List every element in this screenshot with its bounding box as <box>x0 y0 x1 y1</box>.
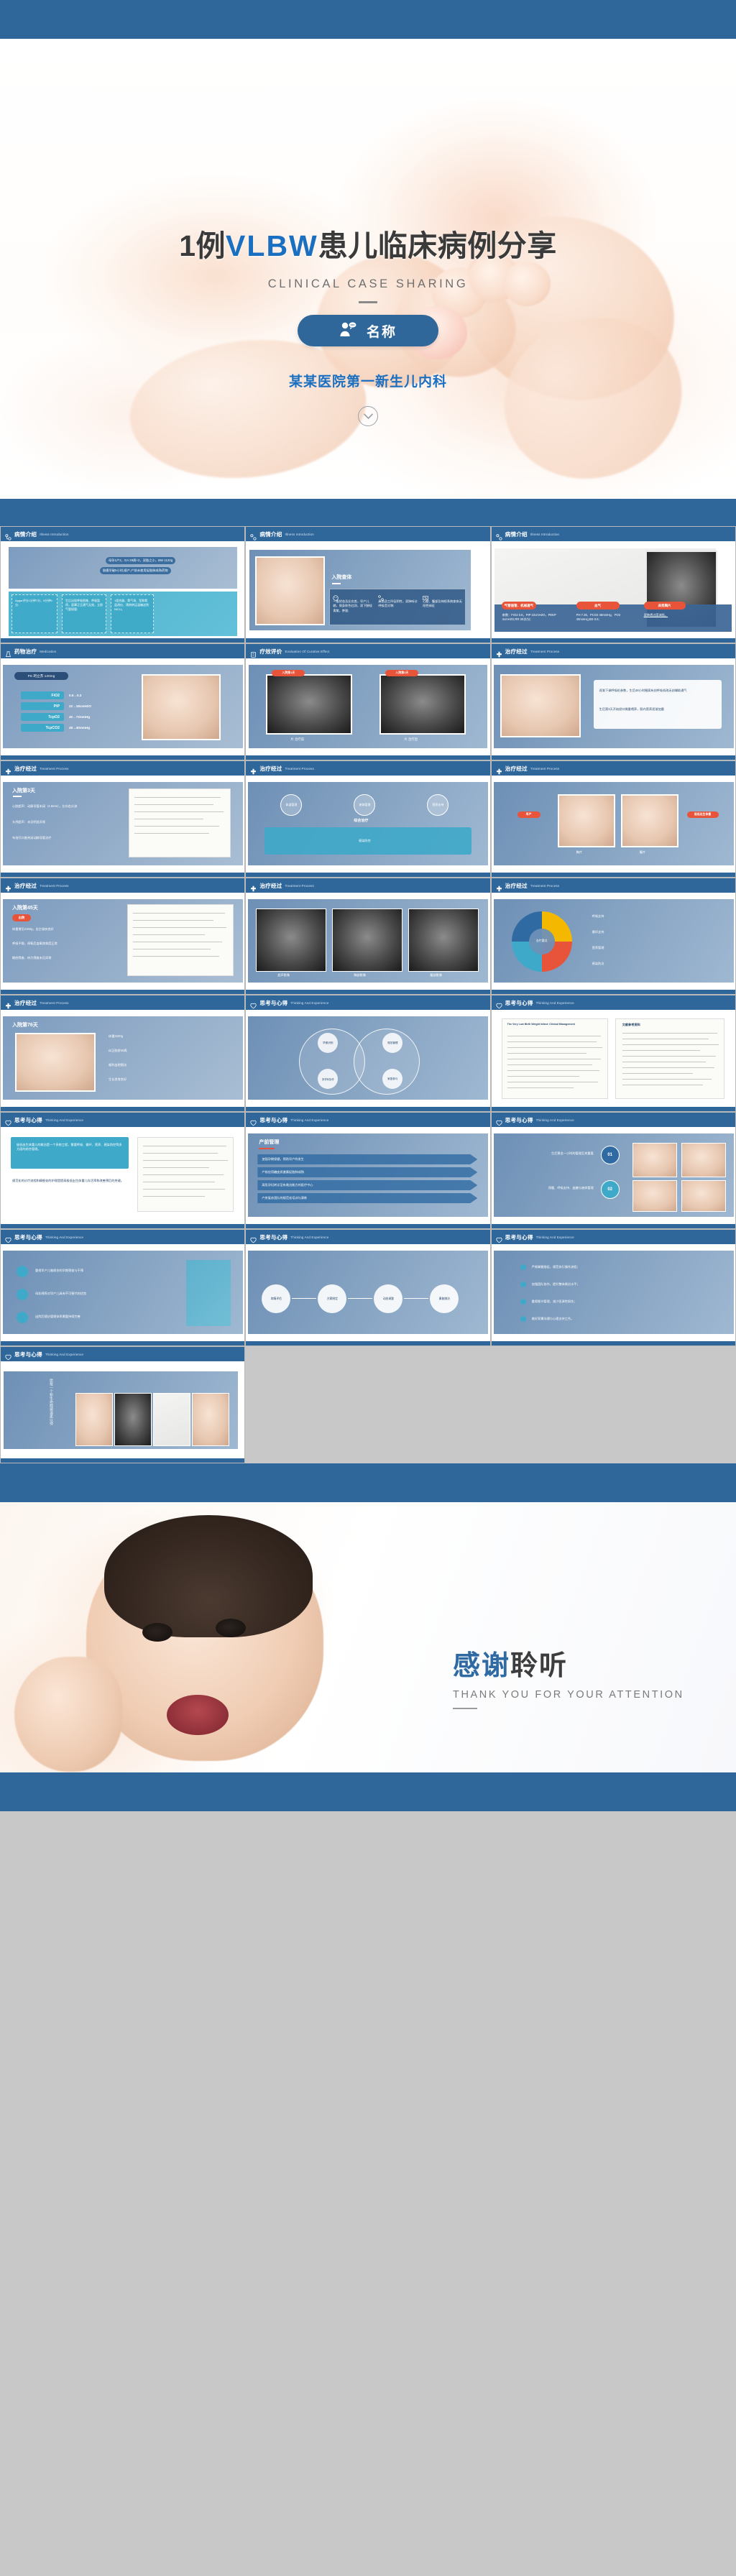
slide-header: 病情介绍 Illness Introduction <box>1 527 244 541</box>
badge: 血气 <box>576 602 620 609</box>
slide-footer-bar <box>246 1341 489 1345</box>
heart-icon <box>5 1351 11 1358</box>
slide-body: 气管插管、机械通气 血气 床旁胸片 参数：FIO2 0.6，PIP 22cmH2… <box>492 541 735 643</box>
slide-section-cn: 药物治疗 <box>14 648 37 655</box>
doc-line <box>507 1059 601 1059</box>
patient-photo <box>558 794 615 847</box>
slide-title: 入院第3天 <box>12 787 35 794</box>
slide-section-cn: 思考与心得 <box>505 1233 533 1241</box>
slide-section-en: Thinking And Experience <box>290 1236 328 1239</box>
slide-thumbnail[interactable]: 治疗经过 Treatment Process 入院第3天 心脏超声：动脉导管未闭… <box>0 760 245 878</box>
highlight-text: 极低出生体重儿的救治是一个系统工程，需要呼吸、循环、营养、感染防控等多方面的综合… <box>17 1143 123 1152</box>
slide-section-cn: 病情介绍 <box>259 530 282 538</box>
slide-body: 早期识别 规范管理 多学科协作 家庭参与 <box>246 1010 489 1111</box>
ultrasound-report <box>129 788 231 857</box>
slide-body: 入院查体 一般状态及反应差，早产儿貌，周身肤色红润，双下肢轻青紫，肿胀; 鼻扇及… <box>246 541 489 643</box>
doc-line <box>143 1160 228 1161</box>
slide-section-en: Treatment Process <box>530 767 559 770</box>
bottom-frame-bar <box>0 1463 736 1502</box>
treatment-note: 生后第3天开始经口微量喂养，肠内营养逐渐加量 <box>599 707 716 712</box>
slide-section-en: Treatment Process <box>40 767 68 770</box>
slide-footer-bar <box>1 755 244 760</box>
vertical-calligraphy-text: 愿每一个新生命都被温柔以待 <box>17 1379 54 1442</box>
step-number: 02 <box>601 1180 620 1199</box>
chevron-down-icon[interactable] <box>358 406 378 426</box>
ultrasound-image <box>256 908 326 972</box>
slide-footer-bar <box>492 1341 735 1345</box>
thanks-text-block: 感谢聆听 THANK YOU FOR YOUR ATTENTION <box>453 1643 684 1709</box>
status-badge: 出院 <box>12 914 31 921</box>
slide-header: 治疗经过 Treatment Process <box>492 644 735 658</box>
badge: 入院第3天 <box>385 670 418 676</box>
slide-thumbnail[interactable]: 思考与心得 Thinking And Experience 01 02 生后黄金… <box>491 1112 736 1229</box>
slide-thumbnail[interactable]: 药物治疗 Medication PS 珂立苏 120mg FiO2 0.6→0.… <box>0 643 245 760</box>
slide-footer-bar <box>246 1107 489 1111</box>
exam-item: 心脏、腹部及神经系统查体无阳性体征 <box>423 599 463 609</box>
title-underline <box>13 796 22 797</box>
slide-section-cn: 思考与心得 <box>505 999 533 1007</box>
slide-body: 01 02 生后黄金一小时的管理至关重要 保暖、呼吸支持、血糖与液体管理 <box>492 1127 735 1228</box>
param-value: 22→18cmH2O <box>69 704 91 709</box>
slide-thumbnail-grid: 病情介绍 Illness Introduction 母孕1产2，GA 29周+2… <box>0 526 736 1463</box>
heart-icon <box>250 1117 257 1123</box>
slide-thumbnail[interactable]: 思考与心得 Thinking And Experience 严格掌握指征，规范执… <box>491 1229 736 1346</box>
slide-header: 治疗经过 Treatment Process <box>246 878 489 893</box>
paper-note: 文献参考资料 <box>622 1023 640 1027</box>
slide-section-cn: 思考与心得 <box>259 1116 287 1124</box>
doc-line <box>507 1076 579 1077</box>
doc-line <box>133 913 225 914</box>
patient-photo <box>621 794 678 847</box>
background-photo <box>494 1251 734 1334</box>
slide-section-cn: 治疗经过 <box>14 882 37 890</box>
slide-header: 病情介绍 Illness Introduction <box>492 527 735 541</box>
bullet-text: 重视早产儿脑损伤的早期筛查与干预 <box>35 1269 172 1273</box>
slide-footer-bar <box>246 638 489 643</box>
slide-footer-bar <box>492 1224 735 1228</box>
slide-thumbnail[interactable]: 治疗经过 Treatment Process 入院第76天 体重3100g 纠正… <box>0 995 245 1112</box>
slide-footer-bar <box>492 873 735 877</box>
slide-header: 病情介绍 Illness Introduction <box>246 527 489 541</box>
paper-title: The Very Low Birth Weight Infant: Clinic… <box>507 1023 602 1026</box>
slide-section-cn: 病情介绍 <box>505 530 528 538</box>
slide-thumbnail[interactable]: 治疗经过 Treatment Process 体温管理 液体管理 营养支持 综合… <box>245 760 490 878</box>
detail-text: 双肺透过度减低。 <box>644 613 687 617</box>
collage-photo <box>114 1393 152 1446</box>
slide-body: 逐渐下调呼吸机参数，生后48小时撤离有创呼吸机改无创辅助通气 生后第3天开始经口… <box>492 658 735 760</box>
title-divider <box>359 301 377 303</box>
chest-xray-image <box>332 908 402 972</box>
image-caption: 胸片 <box>576 850 582 855</box>
doc-line <box>507 1070 599 1071</box>
slide-section-en: Treatment Process <box>40 884 68 888</box>
top-frame-bar <box>0 0 736 39</box>
slide-section-en: Thinking And Experience <box>45 1236 83 1239</box>
slide-body: 病情评估 方案制定 动态调整 康复随访 <box>246 1244 489 1345</box>
image-caption: 腹部影像 <box>430 973 442 977</box>
thank-you-slide: 感谢聆听 THANK YOU FOR YOUR ATTENTION <box>0 1502 736 1772</box>
thanks-heading: 感谢聆听 <box>453 1643 684 1683</box>
slide-section-cn: 治疗经过 <box>14 999 37 1007</box>
paper-page <box>615 1018 724 1099</box>
slide-thumbnail[interactable]: 治疗经过 Treatment Process 治疗要点 呼吸支持 循环支持 营养… <box>491 878 736 995</box>
discharge-report <box>127 904 234 976</box>
title-underline <box>332 583 341 584</box>
bullet-marker <box>17 1266 28 1277</box>
stethoscope-icon <box>5 531 11 538</box>
thanks-heading-dark: 聆听 <box>510 1651 568 1681</box>
slide-footer-bar <box>246 755 489 760</box>
speaker-button-label: 名称 <box>367 321 397 341</box>
slide-section-en: Treatment Process <box>40 1001 68 1005</box>
slide-section-en: Treatment Process <box>530 884 559 888</box>
thanks-divider <box>453 1708 477 1709</box>
vial-icon <box>5 648 11 655</box>
patient-photo <box>255 556 325 625</box>
heart-icon <box>496 1117 502 1123</box>
bullet-marker <box>17 1289 28 1300</box>
patient-photo <box>681 1143 726 1177</box>
slide-header: 思考与心得 Thinking And Experience <box>1 1113 244 1127</box>
slide-section-en: Evaluation Of Curative Effect <box>285 650 330 653</box>
slide-header: 思考与心得 Thinking And Experience <box>1 1347 244 1361</box>
bullet-text: 高危孕妇转诊至有救治能力的医疗中心 <box>262 1183 313 1187</box>
doc-line <box>133 942 222 942</box>
slide-header: 治疗经过 Treatment Process <box>246 761 489 776</box>
doc-line <box>133 956 219 957</box>
xray-after <box>379 674 466 735</box>
baby-eye <box>142 1623 172 1642</box>
image-caption: 胸部影像 <box>354 973 366 977</box>
slide-footer-bar <box>1 1107 244 1111</box>
heart-monitor-icon <box>423 592 428 604</box>
doc-line <box>143 1146 226 1146</box>
doc-line <box>622 1050 700 1051</box>
slide-header: 思考与心得 Thinking And Experience <box>246 995 489 1010</box>
doc-line <box>134 811 224 812</box>
heart-icon <box>250 1234 257 1241</box>
slide-body: 愿每一个新生命都被温柔以待 <box>1 1361 244 1463</box>
slide-section-cn: 治疗经过 <box>14 765 37 773</box>
segment-label: 呼吸支持 <box>592 914 604 919</box>
slide-thumbnail[interactable]: 病情介绍 Illness Introduction 入院查体 一般状态及反应差，… <box>245 526 490 643</box>
medical-cross-icon <box>5 1000 11 1006</box>
doc-line <box>133 927 226 928</box>
slide-body: 重视早产儿脑损伤的早期筛查与干预 母乳喂养对早产儿具有不可替代的优势 出院后随访… <box>1 1244 244 1345</box>
medical-cross-icon <box>5 883 11 889</box>
info-card: 生后出现呼吸困难、呼吸暂停，面罩正压通气无效，立即气管插管; <box>62 594 106 633</box>
slide-section-en: Thinking And Experience <box>536 1236 574 1239</box>
slide-section-cn: 思考与心得 <box>14 1233 42 1241</box>
slide-thumbnail[interactable]: 思考与心得 Thinking And Experience 极低出生体重儿的救治… <box>0 1112 245 1229</box>
treatment-note: 体重增至2150g，自主吸吮良好 <box>12 927 104 931</box>
slide-section-cn: 思考与心得 <box>14 1351 42 1358</box>
slide-thumbnail[interactable]: 思考与心得 Thinking And Experience 产前管理 加强孕期保… <box>245 1112 490 1229</box>
bullet-text: 做好家属沟通与心理支持工作。 <box>532 1317 574 1321</box>
slide-header: 思考与心得 Thinking And Experience <box>246 1113 489 1127</box>
param-value: 0.6→0.3 <box>69 694 81 699</box>
heart-icon <box>496 1000 502 1006</box>
slide-header: 治疗经过 Treatment Process <box>1 995 244 1010</box>
page-subtitle: CLINICAL CASE SHARING <box>268 277 469 291</box>
bullet-text: 重视细节管理，减少医源性损伤； <box>532 1299 577 1304</box>
slide-header: 疗效评价 Evaluation Of Curative Effect <box>246 644 489 658</box>
center-label: 综合治疗 <box>354 819 368 824</box>
collage-photo <box>153 1393 190 1446</box>
baby-mouth <box>167 1695 229 1735</box>
slide-thumbnail[interactable]: 思考与心得 Thinking And Experience 病情评估 方案制定 … <box>245 1229 490 1346</box>
image-caption: 腹片 <box>640 850 645 855</box>
info-chip: 母孕1产2，GA 29周+2，双胎之小，BW 1120g <box>106 557 175 564</box>
slide-thumbnail[interactable]: 思考与心得 Thinking And Experience 早期识别 规范管理 … <box>245 995 490 1112</box>
doc-line <box>622 1085 703 1085</box>
doc-line <box>622 1044 719 1045</box>
bullet-text: 出院后随访管理体系需要持续完善 <box>35 1315 172 1319</box>
slide-thumbnail[interactable]: 疗效评价 Evaluation Of Curative Effect 入院第1天… <box>245 643 490 760</box>
slide-section-cn: 治疗经过 <box>259 765 282 773</box>
info-card: Apgar评分1分钟7分、5分钟9分; <box>11 594 57 633</box>
title-suffix: 患儿临床病例分享 <box>318 229 557 262</box>
segment-label: 营养管理 <box>592 946 604 950</box>
slide-header: 治疗经过 Treatment Process <box>492 878 735 893</box>
detail-text: PH 7.35、PCO2 48mmHg、PO2 40mmHg,BE-3.6; <box>576 613 635 622</box>
speaker-button[interactable]: 名称 <box>298 315 438 346</box>
slide-body: 严格掌握指征，规范执行操作流程； 加强团队协作，提升整体救治水平； 重视细节管理… <box>492 1244 735 1345</box>
slide-footer-bar <box>1 873 244 877</box>
slide-body: PS 珂立苏 120mg FiO2 0.6→0.3 PIP 22→18cmH2O… <box>1 658 244 760</box>
image-caption: 片 治疗前 <box>290 737 304 742</box>
slide-header: 思考与心得 Thinking And Experience <box>492 1113 735 1127</box>
step-text: 保暖、呼吸支持、血糖与液体管理 <box>507 1186 594 1190</box>
segment-label: 感染防治 <box>592 962 604 966</box>
doc-line <box>622 1033 717 1034</box>
slide-thumbnail[interactable]: 治疗经过 Treatment Process 逐渐下调呼吸机参数，生后48小时撤… <box>491 643 736 760</box>
slide-body: 体温管理 液体管理 营养支持 综合治疗 感染防控 <box>246 776 489 877</box>
slide-section-cn: 思考与心得 <box>259 1233 287 1241</box>
slide-section-cn: 病情介绍 <box>14 530 37 538</box>
treatment-note: 头颅超声：未见明显异常 <box>12 820 106 824</box>
xray-before <box>266 674 352 735</box>
footer-frame-bar <box>0 1772 736 1811</box>
treatment-note: 顺利出院随访 <box>109 1063 126 1067</box>
bullet-marker <box>17 1312 28 1323</box>
slide-thumbnail[interactable]: 治疗经过 Treatment Process 入院第45天 出院 体重增至215… <box>0 878 245 995</box>
procedure-photo <box>142 674 221 740</box>
bullet-marker <box>520 1264 526 1270</box>
param-label: PIP <box>21 702 64 710</box>
slide-body: 早产 极低出生体重 胸片 腹片 <box>492 776 735 877</box>
slide-footer-bar <box>1 638 244 643</box>
slide-section-en: Thinking And Experience <box>45 1353 83 1356</box>
bullet-marker <box>520 1282 526 1287</box>
thanks-subheading: THANK YOU FOR YOUR ATTENTION <box>453 1689 684 1701</box>
info-chip: 胎膜早破5小时,顺产,产前未使用促胎肺成熟药物 <box>100 567 171 574</box>
empty-grid-cell <box>491 1346 736 1463</box>
param-value: 40→72mmHg <box>69 715 90 720</box>
doc-line <box>507 1082 598 1082</box>
hero-bottom-frame-bar <box>0 499 736 526</box>
doc-line <box>622 1073 693 1074</box>
bullet-text: 产房复苏团队的规范化培训与演练 <box>262 1196 307 1200</box>
medical-cross-icon <box>250 765 257 772</box>
slide-thumbnail[interactable]: 思考与心得 Thinking And Experience The Very L… <box>491 995 736 1112</box>
patient-photo <box>681 1180 726 1212</box>
doc-line <box>143 1182 215 1182</box>
empty-grid-cell <box>245 1346 490 1463</box>
bullet-text: 加强孕期保健，预防早产的发生 <box>262 1157 304 1161</box>
slide-section-cn: 思考与心得 <box>259 999 287 1007</box>
doc-line <box>143 1189 225 1190</box>
side-panel <box>186 1260 231 1326</box>
doc-line <box>133 934 205 935</box>
slide-section-en: Thinking And Experience <box>536 1001 574 1005</box>
slide-body: 治疗要点 呼吸支持 循环支持 营养管理 感染防治 <box>492 893 735 994</box>
slide-thumbnail[interactable]: 治疗经过 Treatment Process 早产 极低出生体重 胸片 腹片 <box>491 760 736 878</box>
detail-text: 参数：FIO2 0.6，PIP 22cmH2O，PEEP 4cmH2O,RR 3… <box>502 613 558 622</box>
department-label: 某某医院第一新生儿内科 <box>289 371 447 390</box>
incubator-photo <box>500 674 581 737</box>
treatment-note: 心脏超声：动脉导管未闭（2.6mm），左向右分流 <box>12 804 106 809</box>
drug-chip: PS 珂立苏 120mg <box>14 672 68 680</box>
slide-footer-bar <box>492 755 735 760</box>
doc-line <box>134 826 219 827</box>
slide-thumbnail[interactable]: 治疗经过 Treatment Process 超声影像 胸部影像 腹部影像 <box>245 878 490 995</box>
slide-footer-bar <box>246 990 489 994</box>
doc-line <box>622 1062 706 1062</box>
slide-section-cn: 治疗经过 <box>259 882 282 890</box>
treatment-note: 眼底筛查、听力筛查未见异常 <box>12 956 104 960</box>
abdominal-xray-image <box>408 908 479 972</box>
slide-header: 治疗经过 Treatment Process <box>1 761 244 776</box>
medical-cross-icon <box>5 765 11 772</box>
step-text: 生后黄金一小时的管理至关重要 <box>507 1151 594 1156</box>
slide-section-en: Treatment Process <box>530 650 559 653</box>
center-label: 治疗要点 <box>530 939 553 943</box>
slide-footer-bar <box>1 1341 244 1345</box>
param-label: TcpO2 <box>21 713 64 721</box>
slide-body: 母孕1产2，GA 29周+2，双胎之小，BW 1120g 胎膜早破5小时,顺产,… <box>1 541 244 643</box>
slide-thumbnail[interactable]: 思考与心得 Thinking And Experience 重视早产儿脑损伤的早… <box>0 1229 245 1346</box>
slide-body: The Very Low Birth Weight Infant: Clinic… <box>492 1010 735 1111</box>
slide-thumbnail[interactable]: 病情介绍 Illness Introduction 气管插管、机械通气 血气 床… <box>491 526 736 643</box>
slide-header: 思考与心得 Thinking And Experience <box>246 1230 489 1244</box>
slide-section-cn: 思考与心得 <box>14 1116 42 1124</box>
slide-section-cn: 治疗经过 <box>505 882 528 890</box>
info-bubble-label: 感染防控 <box>275 839 454 843</box>
doc-line <box>134 833 209 834</box>
medical-cross-icon <box>496 765 502 772</box>
doc-line <box>134 804 213 805</box>
slide-header: 思考与心得 Thinking And Experience <box>492 995 735 1010</box>
doc-line <box>133 949 211 949</box>
patient-photo <box>15 1033 96 1092</box>
doc-line <box>143 1196 205 1197</box>
badge: 极低出生体重 <box>687 811 719 818</box>
badge: 早产 <box>517 811 540 818</box>
image-caption: 片 治疗后 <box>404 737 418 742</box>
slide-title: 入院第76天 <box>12 1021 38 1029</box>
baby-arm <box>14 1657 122 1772</box>
baby-hair <box>104 1515 313 1637</box>
bullet-text: 严格掌握指征，规范执行操作流程； <box>532 1265 580 1269</box>
doc-line <box>133 920 213 921</box>
slide-body: 超声影像 胸部影像 腹部影像 <box>246 893 489 994</box>
user-speech-icon <box>339 321 356 341</box>
param-value: 48→40mmHg <box>69 726 90 731</box>
exam-item: 一般状态及反应差，早产儿貌，周身肤色红润，双下肢轻青紫，肿胀; <box>333 599 374 613</box>
treatment-note: 布洛芬口服关闭动脉导管治疗 <box>12 836 106 840</box>
doc-line <box>507 1041 597 1042</box>
heart-icon <box>250 1000 257 1006</box>
page-title: 1例VLBW患儿临床病例分享 <box>179 221 557 264</box>
doc-line <box>134 797 221 798</box>
bullet-marker <box>520 1316 526 1322</box>
slide-footer-bar <box>492 1107 735 1111</box>
slide-body: 极低出生体重儿的救治是一个系统工程，需要呼吸、循环、营养、感染防控等多方面的综合… <box>1 1127 244 1228</box>
slide-section-cn: 治疗经过 <box>505 648 528 655</box>
thanks-heading-blue: 感谢 <box>453 1651 510 1681</box>
slide-body: 产前管理 加强孕期保健，预防早产的发生 产前应用糖皮质激素促胎肺成熟 高危孕妇转… <box>246 1127 489 1228</box>
doc-line <box>143 1153 218 1154</box>
baby-face-icon <box>333 592 339 604</box>
stethoscope-icon <box>250 531 257 538</box>
bullet-marker <box>520 1299 526 1305</box>
badge: 入院第1天 <box>272 670 305 676</box>
slide-section-en: Illness Introduction <box>40 533 68 536</box>
slide-header: 治疗经过 Treatment Process <box>492 761 735 776</box>
slide-body: 入院第3天 心脏超声：动脉导管未闭（2.6mm），左向右分流 头颅超声：未见明显… <box>1 776 244 877</box>
segment-label: 循环支持 <box>592 930 604 934</box>
slide-footer-bar <box>492 990 735 994</box>
medical-cross-icon <box>496 648 502 655</box>
doc-line <box>622 1067 714 1068</box>
slide-section-cn: 治疗经过 <box>505 765 528 773</box>
image-caption: 超声影像 <box>277 973 290 977</box>
slide-footer-bar <box>1 990 244 994</box>
slide-header: 思考与心得 Thinking And Experience <box>1 1230 244 1244</box>
param-label: TcpCO2 <box>21 724 64 732</box>
bullet-text: 加强团队协作，提升整体救治水平； <box>532 1282 580 1287</box>
exam-item: 鼻扇及三凹征阴性，双肺听诊呼吸音对称; <box>378 599 418 609</box>
title-prefix: 1例 <box>179 229 226 262</box>
slide-footer-bar <box>1 1224 244 1228</box>
doc-line <box>507 1064 592 1065</box>
slide-body: 入院第1天 入院第3天 片 治疗前 片 治疗后 <box>246 658 489 760</box>
medical-cross-icon <box>496 883 502 889</box>
treatment-note: 生长发育良好 <box>109 1077 126 1082</box>
slide-title: 入院第45天 <box>12 904 38 911</box>
title-accent: VLBW <box>226 229 318 262</box>
slide-title: 产前管理 <box>259 1138 279 1146</box>
treatment-note: 纠正胎龄40周 <box>109 1049 127 1053</box>
note-text: 规范化的诊疗流程和精细化的护理是提高极低出生体重儿存活率和改善预后的关键。 <box>12 1179 129 1183</box>
info-card: 1组合器、氧气场、型和氧监测仪、预热转运温箱送到NICU。 <box>111 594 154 633</box>
badge: 床旁胸片 <box>644 602 686 609</box>
bullet-text: 母乳喂养对早产儿具有不可替代的优势 <box>35 1292 172 1296</box>
slide-body: 入院第76天 体重3100g 纠正胎龄40周 顺利出院随访 生长发育良好 <box>1 1010 244 1111</box>
slide-section-en: Treatment Process <box>285 767 314 770</box>
doc-line <box>622 1079 712 1080</box>
slide-thumbnail[interactable]: 思考与心得 Thinking And Experience 愿每一个新生命都被温… <box>0 1346 245 1463</box>
doc-line <box>507 1036 601 1036</box>
doc-line <box>622 1039 709 1039</box>
stethoscope-icon <box>496 531 502 538</box>
doc-line <box>622 1056 716 1057</box>
slide-thumbnail[interactable]: 病情介绍 Illness Introduction 母孕1产2，GA 29周+2… <box>0 526 245 643</box>
doc-line <box>507 1047 602 1048</box>
medical-cross-icon <box>250 883 257 889</box>
stethoscope-icon <box>378 592 384 604</box>
